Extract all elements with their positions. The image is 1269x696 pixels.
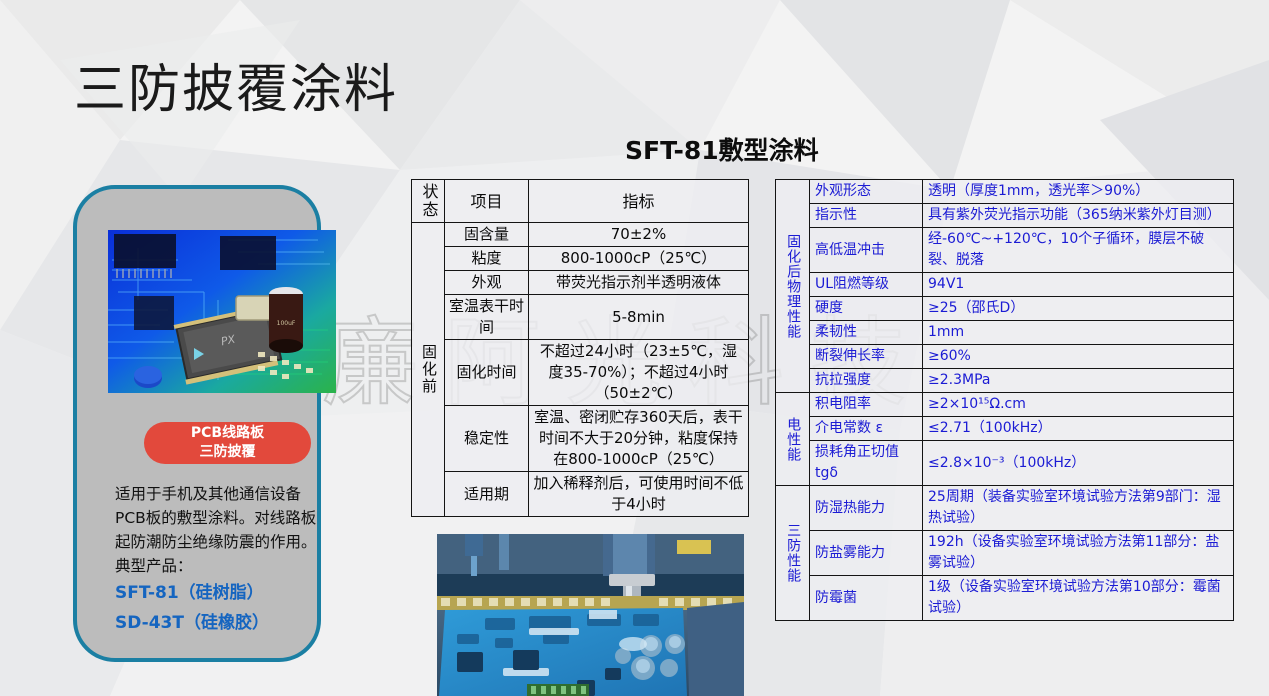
row-value: 1mm <box>923 321 1234 345</box>
table-row: 指示性 具有紫外荧光指示功能（365纳米紫外灯目测） <box>776 204 1234 228</box>
row-value: 透明（厚度1mm，透光率＞90%） <box>923 180 1234 204</box>
header-index: 指标 <box>529 180 749 223</box>
row-value: ≥2×10¹⁵Ω.cm <box>923 393 1234 417</box>
table-row: 室温表干时间 5-8min <box>412 295 749 340</box>
row-item: 积电阻率 <box>810 393 923 417</box>
product-item-1: SD-43T（硅橡胶） <box>115 608 321 638</box>
row-value: 94V1 <box>923 273 1234 297</box>
pcb-closeup-image: PX 100uF <box>108 230 336 393</box>
table-row: 粘度 800-1000cP（25℃） <box>412 247 749 271</box>
table-row: 固化前 固含量 70±2% <box>412 223 749 247</box>
panel-description: 适用于手机及其他通信设备PCB板的敷型涂料。对线路板起防潮防尘绝缘防震的作用。 <box>115 482 321 554</box>
row-item: 外观 <box>445 271 529 295</box>
row-item: 防霉菌 <box>810 576 923 621</box>
table-row: 硬度 ≥25（邵氏D） <box>776 297 1234 321</box>
group-label-protection: 三防性能 <box>776 486 810 621</box>
table-row-header: 状态 项目 指标 <box>412 180 749 223</box>
row-value: ≥25（邵氏D） <box>923 297 1234 321</box>
table-row: 外观 带荧光指示剂半透明液体 <box>412 271 749 295</box>
row-value: 25周期（装备实验室环境试验方法第9部门：湿热试验） <box>923 486 1234 531</box>
group-label-physical: 固化后物理性能 <box>776 180 810 393</box>
typical-product-label: 典型产品： <box>115 554 321 578</box>
row-item: 柔韧性 <box>810 321 923 345</box>
badge-line-2: 三防披覆 <box>144 443 311 462</box>
table-row: 电性能 积电阻率 ≥2×10¹⁵Ω.cm <box>776 393 1234 417</box>
row-value: ≥2.3MPa <box>923 369 1234 393</box>
section-subtitle: SFT-81敷型涂料 <box>625 131 819 167</box>
row-value: 1级（设备实验室环境试验方法第10部分：霉菌试验） <box>923 576 1234 621</box>
row-item: 适用期 <box>445 472 529 517</box>
table-row: 防盐雾能力 192h（设备实验室环境试验方法第11部分：盐雾试验） <box>776 531 1234 576</box>
table-row: 固化时间 不超过24小时（23±5℃，湿度35-70%）；不超过4小时（50±2… <box>412 340 749 406</box>
table-row: 损耗角正切值tgδ ≤2.8×10⁻³（100kHz） <box>776 441 1234 486</box>
row-value: ≤2.8×10⁻³（100kHz） <box>923 441 1234 486</box>
row-value: 192h（设备实验室环境试验方法第11部分：盐雾试验） <box>923 531 1234 576</box>
spec-table-before-curing: 状态 项目 指标 固化前 固含量 70±2% 粘度 800-1000cP（25℃… <box>411 179 749 517</box>
row-item: 稳定性 <box>445 406 529 472</box>
spec-table-after-curing: 固化后物理性能 外观形态 透明（厚度1mm，透光率＞90%） 指示性 具有紫外荧… <box>775 179 1234 621</box>
row-value: 70±2% <box>529 223 749 247</box>
table-row: 柔韧性 1mm <box>776 321 1234 345</box>
table-row: 适用期 加入稀释剂后，可使用时间不低于4小时 <box>412 472 749 517</box>
row-item: 高低温冲击 <box>810 228 923 273</box>
row-item: 硬度 <box>810 297 923 321</box>
row-value: 800-1000cP（25℃） <box>529 247 749 271</box>
row-item: 指示性 <box>810 204 923 228</box>
row-value: 室温、密闭贮存360天后，表干时间不大于20分钟，粘度保持在800-1000cP… <box>529 406 749 472</box>
row-item: 固含量 <box>445 223 529 247</box>
row-item: 断裂伸长率 <box>810 345 923 369</box>
group-label-electrical: 电性能 <box>776 393 810 486</box>
row-item: 防湿热能力 <box>810 486 923 531</box>
state-label-before-curing: 固化前 <box>412 223 445 517</box>
product-info-panel: PX 100uF PCB线路板 三防披覆 适 <box>73 185 321 662</box>
row-value: 5-8min <box>529 295 749 340</box>
table-row: UL阻燃等级 94V1 <box>776 273 1234 297</box>
row-item: 抗拉强度 <box>810 369 923 393</box>
header-item: 项目 <box>445 180 529 223</box>
row-item: UL阻燃等级 <box>810 273 923 297</box>
row-item: 粘度 <box>445 247 529 271</box>
row-value: 不超过24小时（23±5℃，湿度35-70%）；不超过4小时（50±2℃） <box>529 340 749 406</box>
row-item: 固化时间 <box>445 340 529 406</box>
table-row: 断裂伸长率 ≥60% <box>776 345 1234 369</box>
table-row: 防霉菌 1级（设备实验室环境试验方法第10部分：霉菌试验） <box>776 576 1234 621</box>
table-row: 抗拉强度 ≥2.3MPa <box>776 369 1234 393</box>
table-row: 稳定性 室温、密闭贮存360天后，表干时间不大于20分钟，粘度保持在800-10… <box>412 406 749 472</box>
row-value: 具有紫外荧光指示功能（365纳米紫外灯目测） <box>923 204 1234 228</box>
table-row: 固化后物理性能 外观形态 透明（厚度1mm，透光率＞90%） <box>776 180 1234 204</box>
row-item: 防盐雾能力 <box>810 531 923 576</box>
panel-description-block: 适用于手机及其他通信设备PCB板的敷型涂料。对线路板起防潮防尘绝缘防震的作用。 … <box>115 482 321 638</box>
pcb-badge: PCB线路板 三防披覆 <box>144 422 311 464</box>
table-row: 三防性能 防湿热能力 25周期（装备实验室环境试验方法第9部门：湿热试验） <box>776 486 1234 531</box>
row-item: 外观形态 <box>810 180 923 204</box>
table-row: 介电常数 ε ≤2.71（100kHz） <box>776 417 1234 441</box>
badge-line-1: PCB线路板 <box>144 424 311 443</box>
table-row: 高低温冲击 经-60℃~+120℃，10个子循环，膜层不破裂、脱落 <box>776 228 1234 273</box>
pcb-coating-machine-image <box>437 534 744 696</box>
row-item: 介电常数 ε <box>810 417 923 441</box>
row-value: ≤2.71（100kHz） <box>923 417 1234 441</box>
product-item-0: SFT-81（硅树脂） <box>115 578 321 608</box>
row-value: 带荧光指示剂半透明液体 <box>529 271 749 295</box>
header-state: 状态 <box>412 180 445 223</box>
row-value: ≥60% <box>923 345 1234 369</box>
row-value: 经-60℃~+120℃，10个子循环，膜层不破裂、脱落 <box>923 228 1234 273</box>
row-value: 加入稀释剂后，可使用时间不低于4小时 <box>529 472 749 517</box>
row-item: 室温表干时间 <box>445 295 529 340</box>
row-item: 损耗角正切值tgδ <box>810 441 923 486</box>
svg-text:100uF: 100uF <box>277 320 296 327</box>
page-title: 三防披覆涂料 <box>74 47 398 122</box>
